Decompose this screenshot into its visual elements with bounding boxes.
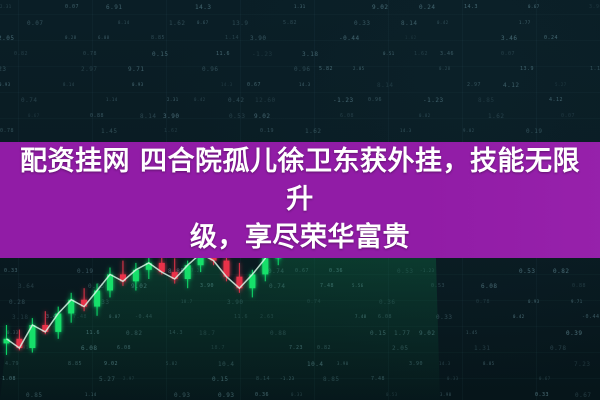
- grid-line-horizontal: [0, 40, 600, 41]
- ticker-value: 0.07: [109, 314, 121, 319]
- ticker-value: 3.46: [440, 51, 454, 57]
- ticker-value: 1.14: [225, 35, 239, 41]
- ticker-value: 1.14: [85, 392, 97, 397]
- grid-line-horizontal: [0, 118, 600, 119]
- ticker-value: 0.78: [476, 299, 490, 305]
- ticker-value: 0.24: [544, 35, 558, 41]
- ticker-value: 3.46: [46, 314, 60, 320]
- ticker-value: 0.53: [431, 283, 445, 289]
- ticker-value: 0.74: [268, 268, 284, 275]
- ticker-value: 2.63: [260, 314, 274, 320]
- ticker-value: 0.15: [370, 330, 386, 337]
- ticker-value: 6.91: [106, 4, 122, 11]
- ticker-value: 0.19: [77, 268, 93, 275]
- ticker-value: 0.53: [397, 268, 413, 275]
- ticker-value: -0.44: [582, 314, 600, 320]
- ticker-value: 3.90: [200, 283, 214, 289]
- ticker-value: 6.08: [98, 35, 110, 40]
- ticker-value: 0.93: [132, 82, 144, 87]
- ticker-value: 6.08: [81, 345, 97, 352]
- ticker-value: 0.15: [212, 376, 228, 383]
- ticker-value: 14.3: [400, 128, 412, 133]
- ticker-value: 10.4: [307, 361, 323, 368]
- ticker-value: 0.36: [379, 299, 395, 306]
- ticker-value: 1.77: [519, 20, 531, 25]
- ticker-value: 12.60: [255, 97, 276, 104]
- ticker-value: 0.33: [291, 392, 303, 397]
- ticker-value: 8.85: [151, 35, 165, 41]
- ticker-value: 2.31: [0, 4, 12, 9]
- candle-body: [133, 270, 139, 282]
- ticker-value: 0.33: [93, 299, 109, 306]
- ticker-value: 3.90: [163, 113, 179, 120]
- candle-body: [29, 325, 35, 348]
- ticker-value: -0.44: [135, 314, 153, 320]
- ticker-value: 0.82: [14, 51, 28, 57]
- grid-line-horizontal: [0, 326, 600, 327]
- ticker-value: 0.67: [247, 82, 261, 88]
- ticker-value: 8.85: [68, 361, 82, 367]
- ticker-value: 0.33: [436, 314, 452, 321]
- ticker-value: 13.9: [520, 66, 534, 72]
- ticker-value: 8.14: [256, 376, 270, 382]
- grid-line-horizontal: [0, 66, 600, 67]
- candle-body: [159, 263, 165, 272]
- candle-body: [224, 261, 230, 277]
- ticker-value: 0.33: [354, 20, 370, 27]
- ticker-value: 8.85: [323, 376, 339, 383]
- ticker-value: 2.31: [167, 97, 179, 102]
- ticker-value: 8.14: [63, 82, 75, 87]
- ticker-value: 0.42: [194, 97, 206, 102]
- ticker-value: 18.7: [199, 330, 215, 337]
- ticker-value: 13.9: [232, 20, 248, 27]
- ticker-value: 0.07: [501, 51, 515, 57]
- ticker-value: 2.05: [353, 66, 365, 71]
- candle-body: [172, 272, 178, 279]
- ticker-value: 0.74: [307, 299, 321, 305]
- ticker-value: 0.93: [88, 283, 104, 290]
- ticker-value: 3.90: [589, 4, 600, 10]
- ticker-value: 8.85: [168, 268, 184, 275]
- candle-body: [81, 300, 87, 307]
- ticker-value: 0.82: [126, 330, 142, 337]
- ticker-value: 1.31: [294, 4, 306, 9]
- ticker-value: 1.45: [466, 330, 478, 335]
- candle-body: [185, 265, 191, 279]
- ticker-value: 0.42: [513, 314, 525, 319]
- ticker-value: 0.78: [0, 128, 14, 134]
- grid-line-horizontal: [0, 92, 600, 93]
- ticker-value: 6.08: [340, 113, 354, 119]
- grid-line-horizontal: [0, 352, 600, 353]
- ticker-value: 1.62: [305, 128, 321, 135]
- ticker-value: 7.23: [0, 66, 6, 73]
- ticker-value: 7.48: [73, 314, 87, 320]
- ticker-value: 3.90: [337, 361, 349, 366]
- ticker-value: -1.23: [423, 97, 444, 104]
- ticker-value: 0.39: [566, 330, 582, 337]
- ticker-value: 8.14: [118, 20, 130, 25]
- ticker-value: 0.51: [383, 51, 395, 56]
- ticker-value: -1.23: [280, 376, 295, 381]
- candle-body: [107, 274, 113, 290]
- ticker-value: 8.85: [478, 97, 494, 104]
- ticker-value: 0.33: [535, 392, 549, 398]
- ticker-value: 0.67: [295, 268, 309, 274]
- ticker-value: 5.82: [319, 66, 333, 72]
- ticker-value: 9.02: [104, 361, 118, 367]
- ticker-value: 9.02: [419, 330, 435, 337]
- ticker-value: 0.42: [228, 97, 244, 104]
- ticker-value: 14.3: [221, 82, 233, 87]
- ticker-value: 0.07: [65, 4, 79, 10]
- candle-body: [146, 263, 152, 270]
- ticker-value: 0.88: [90, 113, 104, 119]
- page-title: 配资挂网 四合院孤儿徐卫东获外挂，技能无限升 级，享尽荣华富贵: [10, 143, 590, 258]
- ticker-value: 11.6: [216, 51, 230, 57]
- ticker-value: 9.02: [463, 128, 475, 133]
- ticker-value: 14.3: [195, 4, 211, 11]
- ticker-value: 1.45: [101, 128, 117, 135]
- ticker-value: 0.88: [572, 283, 586, 289]
- ticker-value: -1.23: [420, 268, 435, 273]
- ticker-value: 2.05: [0, 35, 14, 42]
- ticker-value: 3.90: [227, 299, 243, 306]
- ticker-value: 6.08: [117, 345, 131, 351]
- ticker-value: 0.07: [561, 113, 575, 119]
- ticker-value: 8.14: [140, 113, 156, 120]
- ticker-value: 0.19: [260, 128, 274, 134]
- ticker-value: 1.31: [474, 345, 490, 352]
- ticker-value: 9.02: [254, 113, 270, 120]
- ticker-value: 1.14: [590, 66, 600, 72]
- ticker-value: 7.23: [191, 268, 203, 273]
- ticker-value: 0.67: [539, 376, 551, 381]
- ticker-value: 0.85: [26, 392, 42, 399]
- ticker-value: 2.05: [392, 345, 408, 352]
- ticker-value: 0.96: [202, 66, 218, 73]
- ticker-value: 0.67: [28, 113, 40, 118]
- ticker-value: 11.6: [234, 314, 248, 320]
- ticker-value: 1.62: [405, 35, 417, 40]
- ticker-value: 9.02: [372, 4, 388, 11]
- candle-body: [68, 300, 74, 314]
- ticker-value: 3.90: [409, 361, 423, 367]
- ticker-value: 2.97: [81, 66, 97, 73]
- candle-body: [262, 258, 268, 274]
- ticker-value: 18.7: [211, 345, 225, 351]
- ticker-value: 0.33: [447, 376, 459, 381]
- ticker-value: 0.96: [368, 97, 382, 103]
- ticker-value: 3.18: [12, 314, 28, 321]
- ticker-value: -1.23: [252, 51, 273, 58]
- ticker-value: 0.93: [528, 299, 540, 304]
- promo-banner-image: 2.310.076.9114.31.319.020.2414.30.673.90…: [0, 0, 600, 400]
- ticker-value: 0.15: [152, 51, 168, 58]
- ticker-value: 3.18: [302, 51, 318, 58]
- ticker-value: 7.23: [289, 345, 303, 351]
- ticker-value: 0.19: [526, 128, 542, 135]
- ticker-value: 0.53: [519, 268, 535, 275]
- ticker-value: 10.4: [218, 361, 234, 368]
- ticker-value: -1.23: [333, 97, 354, 104]
- ticker-value: 5.27: [555, 82, 567, 87]
- candle-body: [16, 339, 22, 348]
- ticker-value: 1.62: [164, 128, 178, 134]
- ticker-value: 1.08: [2, 376, 16, 382]
- grid-line-horizontal: [0, 14, 600, 15]
- ticker-value: 0.53: [386, 392, 398, 397]
- ticker-value: 6.08: [481, 283, 497, 290]
- ticker-value: 0.24: [419, 4, 435, 11]
- ticker-value: 8.85: [483, 361, 495, 366]
- ticker-value: 14.3: [299, 82, 311, 87]
- ticker-value: 1.77: [394, 330, 410, 337]
- ticker-value: 5.56: [352, 283, 364, 288]
- candle-body: [249, 274, 255, 288]
- ticker-value: -0.44: [339, 35, 360, 42]
- candle-body: [94, 291, 100, 307]
- ticker-value: 3.46: [501, 35, 517, 42]
- ticker-value: 6.08: [378, 314, 392, 320]
- ticker-value: 0.67: [197, 20, 209, 25]
- ticker-value: 0.74: [269, 283, 285, 290]
- ticker-value: 9.71: [128, 66, 144, 73]
- ticker-value: 0.74: [21, 97, 37, 104]
- ticker-value: 0.36: [329, 268, 343, 274]
- ticker-value: 1.62: [488, 113, 504, 120]
- ticker-value: 0.36: [255, 392, 269, 398]
- ticker-value: 0.93: [218, 392, 234, 399]
- ticker-value: 2.97: [123, 376, 135, 381]
- ticker-value: 1.62: [414, 51, 428, 57]
- ticker-value: 3.64: [18, 283, 34, 290]
- ticker-value: 0.07: [27, 20, 43, 27]
- ticker-value: 0.93: [0, 82, 11, 87]
- ticker-value: 9.02: [131, 283, 147, 290]
- ticker-value: 0.53: [229, 113, 245, 120]
- ticker-value: 2.97: [467, 82, 481, 88]
- ticker-value: 14.3: [464, 4, 478, 10]
- ticker-value: 0.33: [4, 268, 18, 274]
- ticker-value: 7.23: [574, 361, 590, 368]
- ticker-value: 18.7: [181, 299, 193, 304]
- ticker-value: 7.48: [355, 314, 367, 319]
- ticker-value: 6.91: [17, 345, 29, 350]
- ticker-value: 4.12: [549, 97, 563, 103]
- ticker-value: 0.82: [419, 113, 431, 118]
- ticker-value: 8.14: [401, 20, 417, 27]
- ticker-value: 4.79: [5, 361, 19, 367]
- ticker-value: 9.71: [571, 299, 583, 304]
- ticker-value: 1.14: [106, 97, 118, 102]
- candle-body: [236, 277, 242, 289]
- ticker-value: 14.3: [169, 330, 183, 336]
- ticker-value: 0.78: [83, 51, 97, 57]
- ticker-value: 0.82: [553, 268, 569, 275]
- page-title-line-2: 级，享尽荣华富贵: [190, 222, 410, 253]
- ticker-value: 0.33: [7, 330, 19, 335]
- ticker-value: 1.62: [169, 20, 185, 27]
- ticker-value: 0.28: [439, 66, 451, 71]
- candle-body: [120, 274, 126, 281]
- ticker-value: 11.6: [86, 330, 100, 336]
- ticker-value: 0.82: [317, 345, 331, 351]
- headline-banner: 配资挂网 四合院孤儿徐卫东获外挂，技能无限升 级，享尽荣华富贵: [0, 142, 600, 258]
- ticker-value: 7.48: [371, 376, 385, 382]
- ticker-value: 14.3: [439, 361, 451, 366]
- ticker-value: 0.78: [550, 345, 566, 352]
- ticker-value: 7.48: [320, 283, 334, 289]
- ticker-value: 5.82: [283, 20, 297, 26]
- ticker-value: 3.90: [250, 35, 266, 42]
- grid-line-horizontal: [0, 300, 600, 301]
- grid-line-horizontal: [0, 378, 600, 379]
- ticker-value: 0.88: [270, 330, 286, 337]
- candle-body: [4, 339, 10, 344]
- ticker-value: 0.28: [9, 299, 25, 306]
- candle-body: [55, 314, 61, 332]
- ticker-value: 5.27: [99, 376, 115, 383]
- ticker-value: 8.14: [377, 82, 393, 89]
- ticker-value: 3.90: [440, 392, 452, 397]
- page-title-line-1: 配资挂网 四合院孤儿徐卫东获外挂，技能无限升: [20, 146, 580, 215]
- grid-line-horizontal: [0, 274, 600, 275]
- ticker-value: 0.96: [294, 66, 310, 73]
- ticker-value: 0.42: [437, 20, 449, 25]
- ticker-value: 0.28: [65, 35, 77, 40]
- candle-body: [42, 325, 48, 332]
- ticker-value: 0.93: [174, 392, 190, 399]
- ticker-value: 5.82: [166, 361, 178, 366]
- ticker-value: 4.12: [503, 82, 519, 89]
- ticker-value: 0.67: [528, 4, 540, 9]
- ticker-value: 0.67: [575, 392, 591, 399]
